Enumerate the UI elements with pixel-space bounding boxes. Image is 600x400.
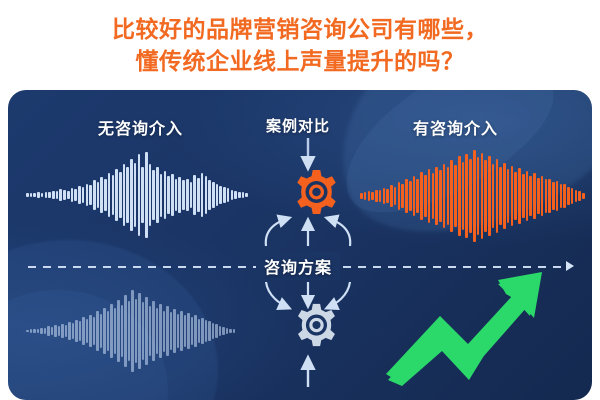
title-line-2: 懂传统企业线上声量提升的吗？ bbox=[136, 46, 465, 76]
title-line-1: 比较好的品牌营销咨询公司有哪些， bbox=[112, 14, 488, 44]
trending-up-arrow-icon bbox=[380, 268, 548, 386]
screenshot-root: 比较好的品牌营销咨询公司有哪些， 懂传统企业线上声量提升的吗？ 无咨询介入 案例… bbox=[0, 0, 600, 400]
illustration-panel: 无咨询介入 案例对比 有咨询介入 咨询方案 bbox=[8, 90, 592, 400]
gear-icon bbox=[291, 168, 341, 218]
page-title: 比较好的品牌营销咨询公司有哪些， 懂传统企业线上声量提升的吗？ bbox=[0, 0, 600, 90]
gear-icon bbox=[292, 302, 340, 350]
